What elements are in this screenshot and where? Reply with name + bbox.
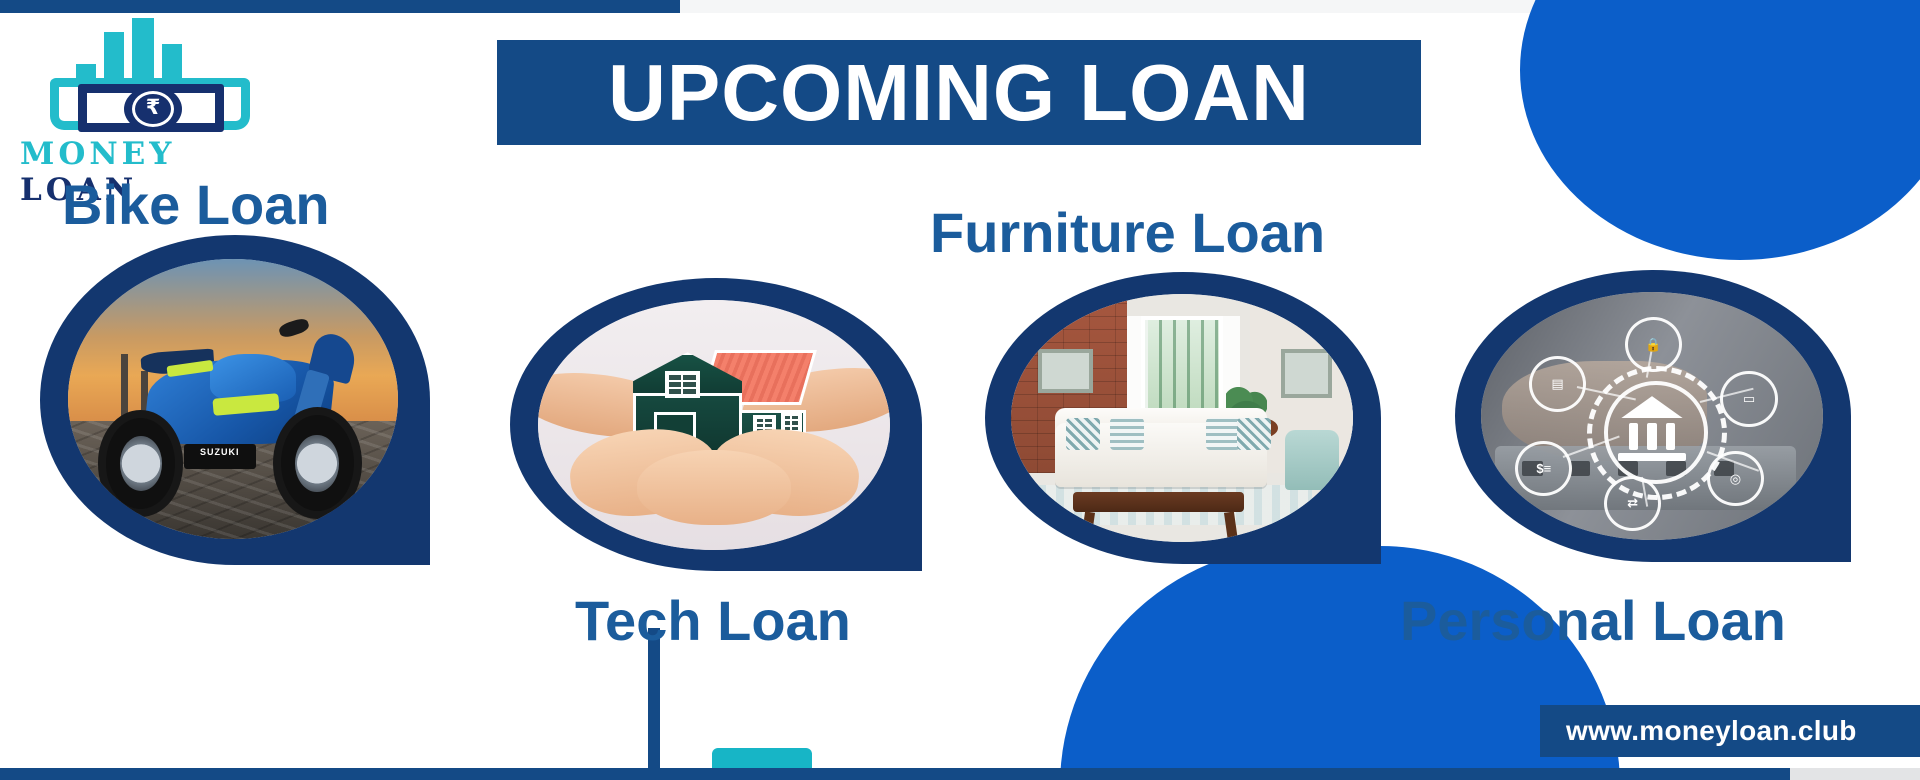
fintech-photo: 🔒 ▤ ▭ $≡ ◎ ⇄ bbox=[1481, 292, 1823, 540]
headline-banner: UPCOMING LOAN bbox=[497, 40, 1421, 145]
promo-banner: ₹ MONEY LOAN UPCOMING LOAN bbox=[0, 0, 1920, 780]
credit-card-icon: ▭ bbox=[1720, 371, 1777, 427]
top-right-circle-decoration bbox=[1520, 0, 1920, 260]
cash-icon: ◎ bbox=[1707, 451, 1764, 507]
bottom-dome-decoration bbox=[1060, 546, 1620, 780]
house-in-hands-photo bbox=[538, 300, 890, 550]
open-book-banknote-icon: ₹ bbox=[50, 78, 250, 136]
loan-card-tech-label: Tech Loan bbox=[575, 588, 851, 653]
loan-card-furniture[interactable] bbox=[985, 272, 1385, 572]
website-badge[interactable]: www.moneyloan.club bbox=[1540, 705, 1920, 757]
lock-icon: 🔒 bbox=[1625, 317, 1682, 373]
rupee-coin-icon: ₹ bbox=[124, 86, 182, 132]
bottom-teal-chip-decoration bbox=[712, 748, 812, 768]
bike-brand-badge: SUZUKI bbox=[184, 444, 257, 469]
brand-logo[interactable]: ₹ MONEY LOAN bbox=[14, 20, 286, 160]
loan-card-bike[interactable]: SUZUKI bbox=[40, 235, 440, 565]
bottom-gray-bar bbox=[1790, 768, 1920, 780]
atm-icon: ▤ bbox=[1529, 356, 1586, 412]
brand-word-money: MONEY bbox=[20, 136, 175, 172]
bike-photo: SUZUKI bbox=[68, 259, 398, 539]
loan-card-tech[interactable] bbox=[510, 278, 930, 578]
loan-card-furniture-label: Furniture Loan bbox=[930, 200, 1325, 265]
loan-card-bike-label: Bike Loan bbox=[62, 172, 330, 237]
transfer-icon: ⇄ bbox=[1604, 476, 1661, 532]
page-title: UPCOMING LOAN bbox=[608, 53, 1310, 133]
top-accent-strip bbox=[0, 0, 680, 13]
website-url: www.moneyloan.club bbox=[1540, 715, 1857, 747]
living-room-photo bbox=[1011, 294, 1353, 542]
loan-card-personal[interactable]: 🔒 ▤ ▭ $≡ ◎ ⇄ bbox=[1455, 270, 1855, 570]
rupee-symbol: ₹ bbox=[132, 91, 174, 127]
bank-building-icon bbox=[1621, 396, 1683, 460]
loan-card-personal-label: Personal Loan bbox=[1400, 588, 1786, 653]
bottom-accent-bar bbox=[0, 768, 1790, 780]
